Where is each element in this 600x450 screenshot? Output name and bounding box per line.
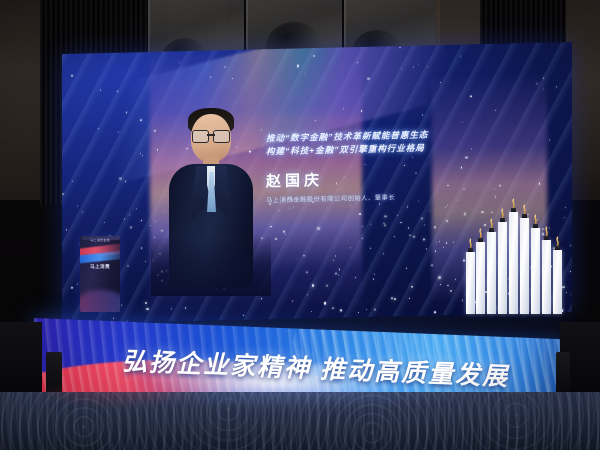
glasses-icon [192,130,230,141]
trophy-icon [467,237,474,252]
trophy-pedestal [509,212,518,314]
speaker-portrait [163,108,259,288]
trophy-pedestal-group [466,198,564,314]
trophy-icon [477,227,484,242]
speaker-bottom-fade [151,236,271,296]
trophy-pedestal [542,240,551,314]
trophy-pedestal [466,252,475,314]
trophy-icon [532,213,539,228]
trophy-icon [554,235,561,250]
trophy-icon [510,197,517,212]
stage-scene: 推动“数字金融”技术革新赋能普惠生态 构建“科技+金融”双引擎重构行业格局 赵国… [0,0,600,450]
led-text-block: 推动“数字金融”技术革新赋能普惠生态 构建“科技+金融”双引擎重构行业格局 赵国… [266,128,466,205]
trophy-icon [499,207,506,222]
stage-side-block-left [0,322,42,394]
trophy-pedestal [487,232,496,314]
wood-panel-left-outer [0,0,42,200]
trophy-icon [521,203,528,218]
speaker-name: 赵国庆 [266,166,466,192]
podium-logo: 马上消费 [80,264,120,270]
floor-red-glow [40,388,240,414]
trophy-pedestal [520,218,529,314]
trophy-icon [543,225,550,240]
podium-bottom-arc [80,290,120,312]
trophy-pedestal [476,242,485,314]
podium: 马上消费金融 马上消费 [80,236,120,312]
podium-label: 马上消费金融 [80,238,120,242]
carpet-floor [0,392,600,450]
trophy-icon [488,217,495,232]
trophy-pedestal [553,250,562,314]
trophy-pedestal [531,228,540,314]
loudspeaker-right [556,352,570,394]
trophy-pedestal [498,222,507,314]
